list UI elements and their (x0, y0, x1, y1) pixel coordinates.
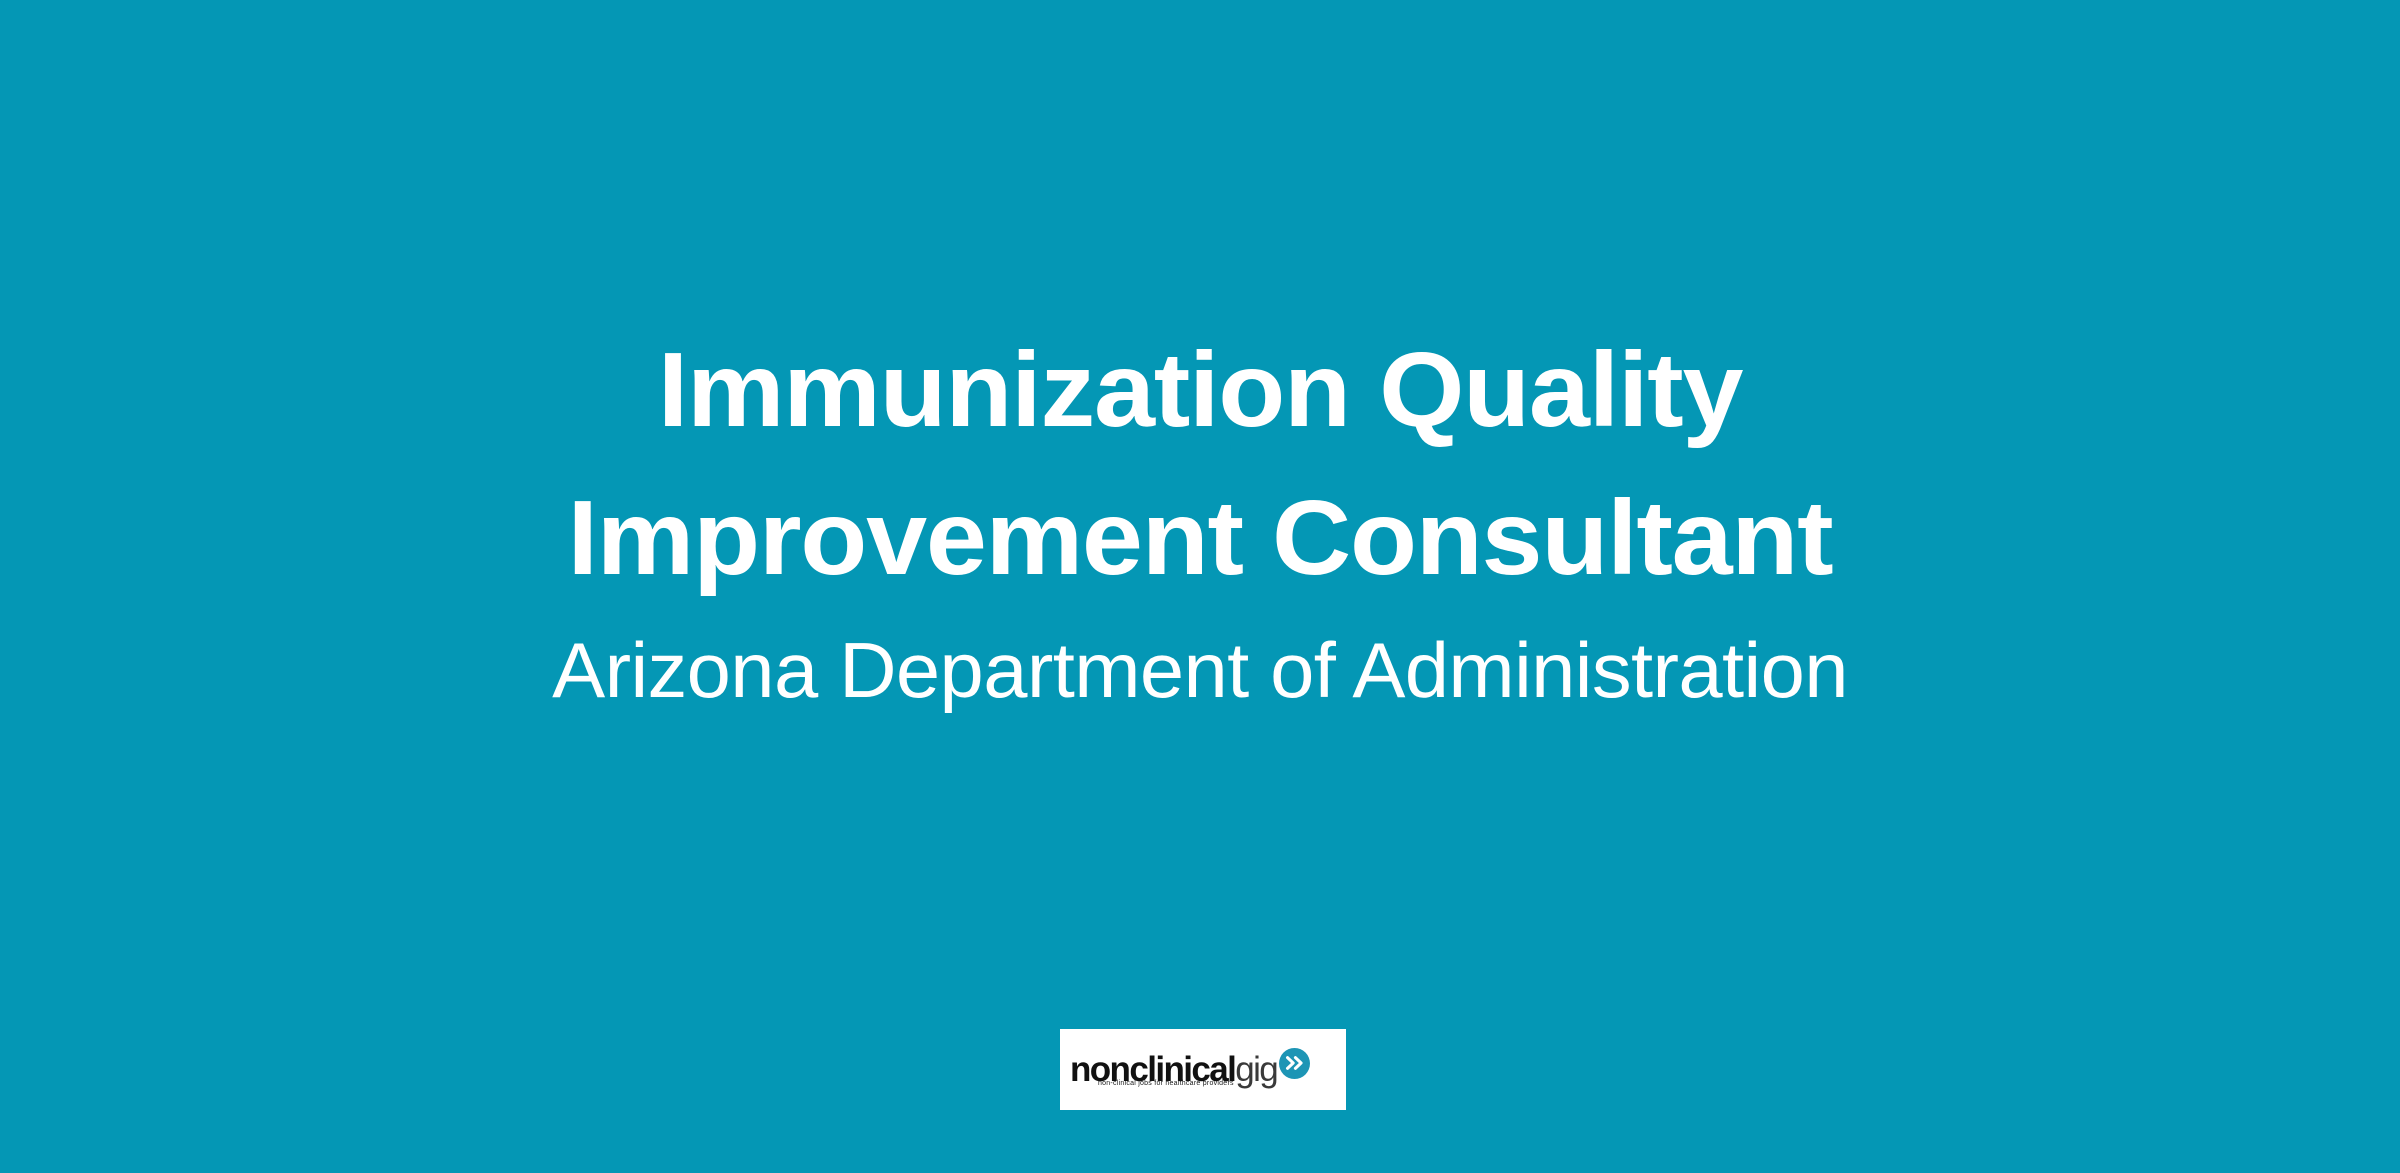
brand-tagline: non-clinical jobs for healthcare provide… (1098, 1080, 1234, 1087)
page-title-line-1: Immunization Quality (0, 316, 2400, 464)
brand-logo-card: nonclinical gig non-clinical jobs for he… (1060, 1029, 1346, 1110)
page-subtitle: Arizona Department of Administration (0, 618, 2400, 722)
title-block: Immunization Quality Improvement Consult… (0, 316, 2400, 722)
brand-logo: nonclinical gig non-clinical jobs for he… (1070, 1046, 1336, 1094)
brand-wordmark-secondary: gig (1235, 1052, 1277, 1087)
title-slide: Immunization Quality Improvement Consult… (0, 0, 2400, 1173)
page-title-line-2: Improvement Consultant (0, 464, 2400, 612)
double-chevron-right-icon (1279, 1048, 1310, 1079)
